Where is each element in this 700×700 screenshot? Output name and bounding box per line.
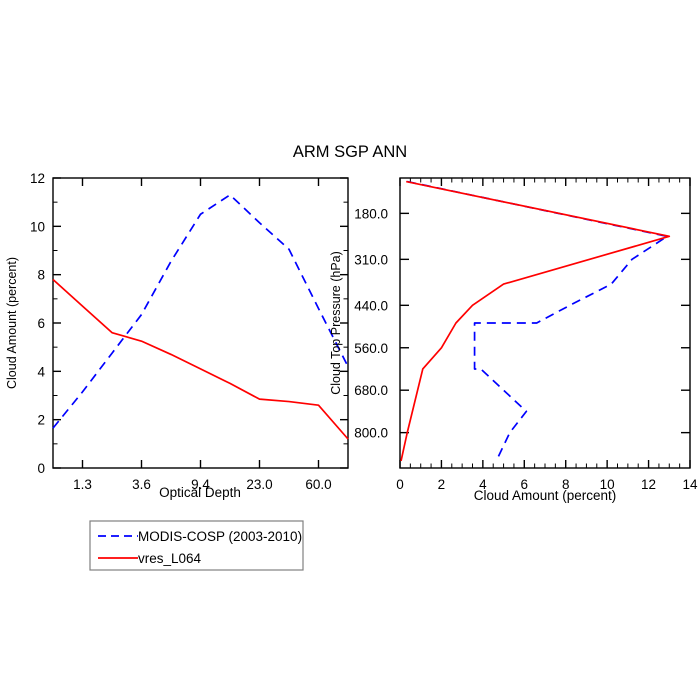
left-y-tick-label: 12 xyxy=(30,171,45,186)
left-x-tick-label: 60.0 xyxy=(305,477,331,492)
right-x-tick-label: 0 xyxy=(396,477,404,492)
figure-background xyxy=(0,0,700,700)
right-y-tick-label: 800.0 xyxy=(354,426,388,441)
left-y-tick-label: 4 xyxy=(37,364,45,379)
left-x-tick-label: 1.3 xyxy=(73,477,92,492)
figure-canvas: ARM SGP ANN 0246810121.33.69.423.060.0 O… xyxy=(0,0,700,700)
left-x-tick-label: 3.6 xyxy=(132,477,151,492)
right-x-tick-label: 14 xyxy=(682,477,698,492)
page-title: ARM SGP ANN xyxy=(293,143,407,161)
right-x-tick-label: 2 xyxy=(438,477,446,492)
left-panel-x-axis-label: Optical Depth xyxy=(159,485,241,500)
left-y-tick-label: 8 xyxy=(37,268,45,283)
left-y-tick-label: 0 xyxy=(37,461,45,476)
legend-label-1: vres_L064 xyxy=(138,551,202,566)
legend-label-0: MODIS-COSP (2003-2010) xyxy=(138,529,302,544)
right-panel-y-axis-label: Cloud Top Pressure (hPa) xyxy=(329,251,343,395)
right-panel-x-axis-label: Cloud Amount (percent) xyxy=(474,488,617,503)
right-y-tick-label: 310.0 xyxy=(354,252,388,267)
left-y-tick-label: 10 xyxy=(30,219,45,234)
left-x-tick-label: 23.0 xyxy=(246,477,272,492)
legend: MODIS-COSP (2003-2010)vres_L064 xyxy=(90,521,303,570)
left-panel-y-axis-label: Cloud Amount (percent) xyxy=(5,257,19,389)
left-y-tick-label: 6 xyxy=(37,316,45,331)
right-y-tick-label: 680.0 xyxy=(354,383,388,398)
right-y-tick-label: 180.0 xyxy=(354,206,388,221)
right-y-tick-label: 560.0 xyxy=(354,341,388,356)
right-y-tick-label: 440.0 xyxy=(354,298,388,313)
right-x-tick-label: 12 xyxy=(641,477,656,492)
left-y-tick-label: 2 xyxy=(37,413,45,428)
